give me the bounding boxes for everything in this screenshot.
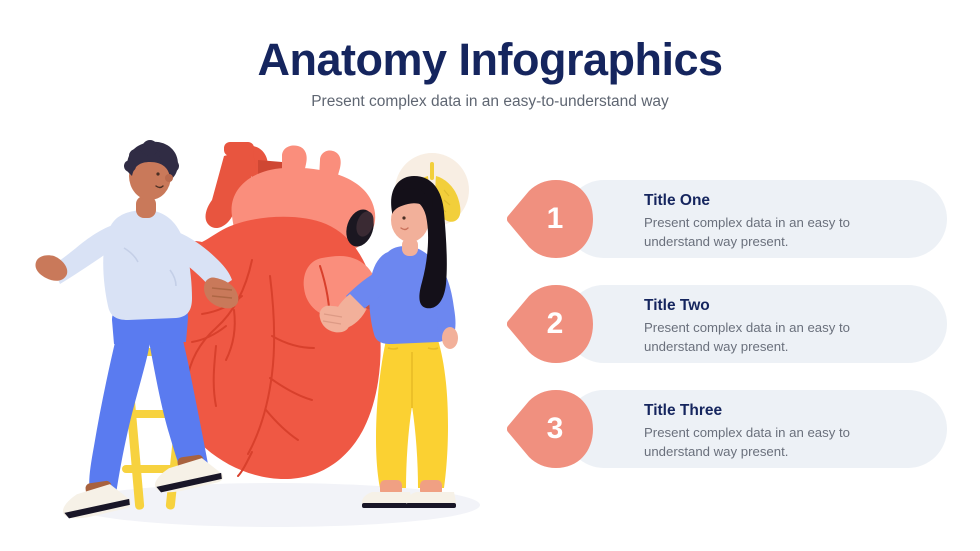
list-item[interactable]: 3 Title Three Present complex data in an…: [507, 386, 947, 475]
item-title: Title One: [644, 192, 907, 210]
item-number: 2: [507, 281, 593, 367]
item-description: Present complex data in an easy to under…: [644, 318, 907, 356]
male-ear: [165, 174, 173, 182]
item-title: Title Two: [644, 297, 907, 315]
items-panel: 1 Title One Present complex data in an e…: [507, 176, 947, 491]
anatomy-illustration: [20, 120, 500, 540]
page-title: Anatomy Infographics: [0, 36, 980, 83]
item-badge-1[interactable]: 1: [507, 176, 593, 262]
item-text-block: Title One Present complex data in an eas…: [644, 192, 907, 251]
item-description: Present complex data in an easy to under…: [644, 423, 907, 461]
item-description: Present complex data in an easy to under…: [644, 213, 907, 251]
list-item[interactable]: 2 Title Two Present complex data in an e…: [507, 281, 947, 370]
list-item[interactable]: 1 Title One Present complex data in an e…: [507, 176, 947, 265]
item-text-block: Title Two Present complex data in an eas…: [644, 297, 907, 356]
female-hand-right: [442, 327, 458, 349]
lungs-trachea: [430, 162, 434, 180]
item-number: 1: [507, 176, 593, 262]
item-title: Title Three: [644, 402, 907, 420]
header: Anatomy Infographics Present complex dat…: [0, 36, 980, 111]
slide-canvas: Anatomy Infographics Present complex dat…: [0, 0, 980, 551]
item-badge-3[interactable]: 3: [507, 386, 593, 472]
item-number: 3: [507, 386, 593, 472]
item-badge-2[interactable]: 2: [507, 281, 593, 367]
item-text-block: Title Three Present complex data in an e…: [644, 402, 907, 461]
page-subtitle: Present complex data in an easy-to-under…: [0, 93, 980, 111]
